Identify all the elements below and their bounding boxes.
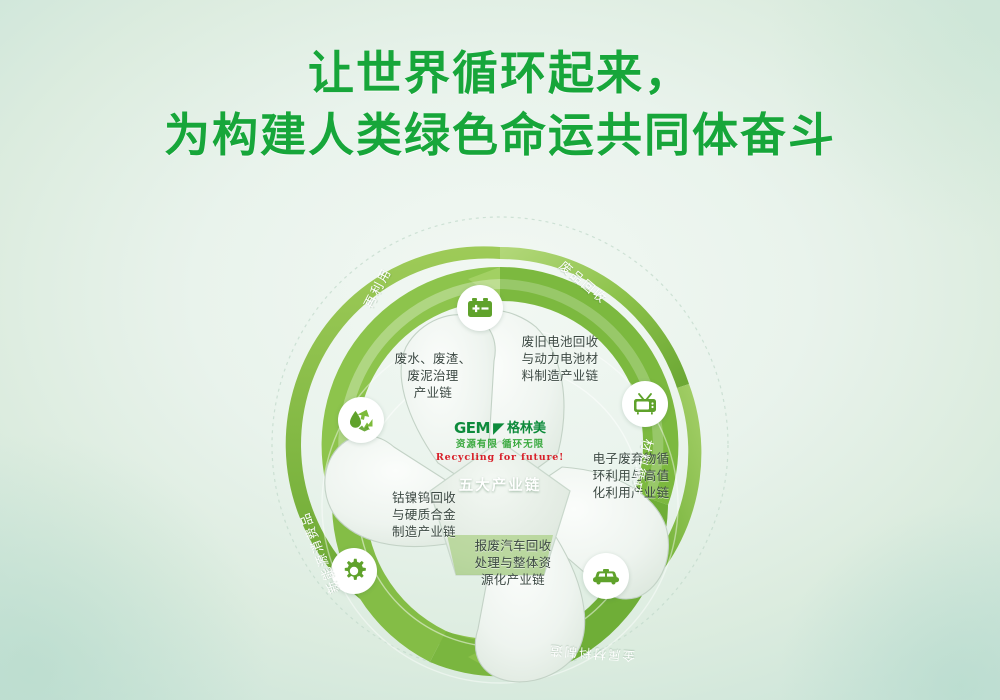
node-icon-gear[interactable] — [331, 548, 377, 594]
page-title: 让世界循环起来， 为构建人类绿色命运共同体奋斗 — [0, 42, 1000, 166]
circular-economy-diagram: 废旧电池回收 与动力电池材 料制造产业链 电子废弃物循 环利用与高值 化利用产业… — [200, 205, 800, 685]
headline-line-2: 为构建人类绿色命运共同体奋斗 — [0, 104, 1000, 166]
car-icon — [592, 567, 620, 585]
node-icon-car[interactable] — [583, 553, 629, 599]
gear-icon — [341, 558, 367, 584]
diagram-svg — [200, 205, 800, 685]
battery-icon — [467, 297, 493, 319]
television-icon — [632, 392, 658, 416]
node-icon-television[interactable] — [622, 381, 668, 427]
node-icon-battery[interactable] — [457, 285, 503, 331]
core-label-backdrop — [447, 535, 553, 575]
infographic-canvas: 让世界循环起来， 为构建人类绿色命运共同体奋斗 — [0, 0, 1000, 700]
water-recycle-icon — [347, 407, 375, 433]
headline-line-1: 让世界循环起来， — [0, 42, 1000, 104]
node-icon-water-recycle[interactable] — [338, 397, 384, 443]
